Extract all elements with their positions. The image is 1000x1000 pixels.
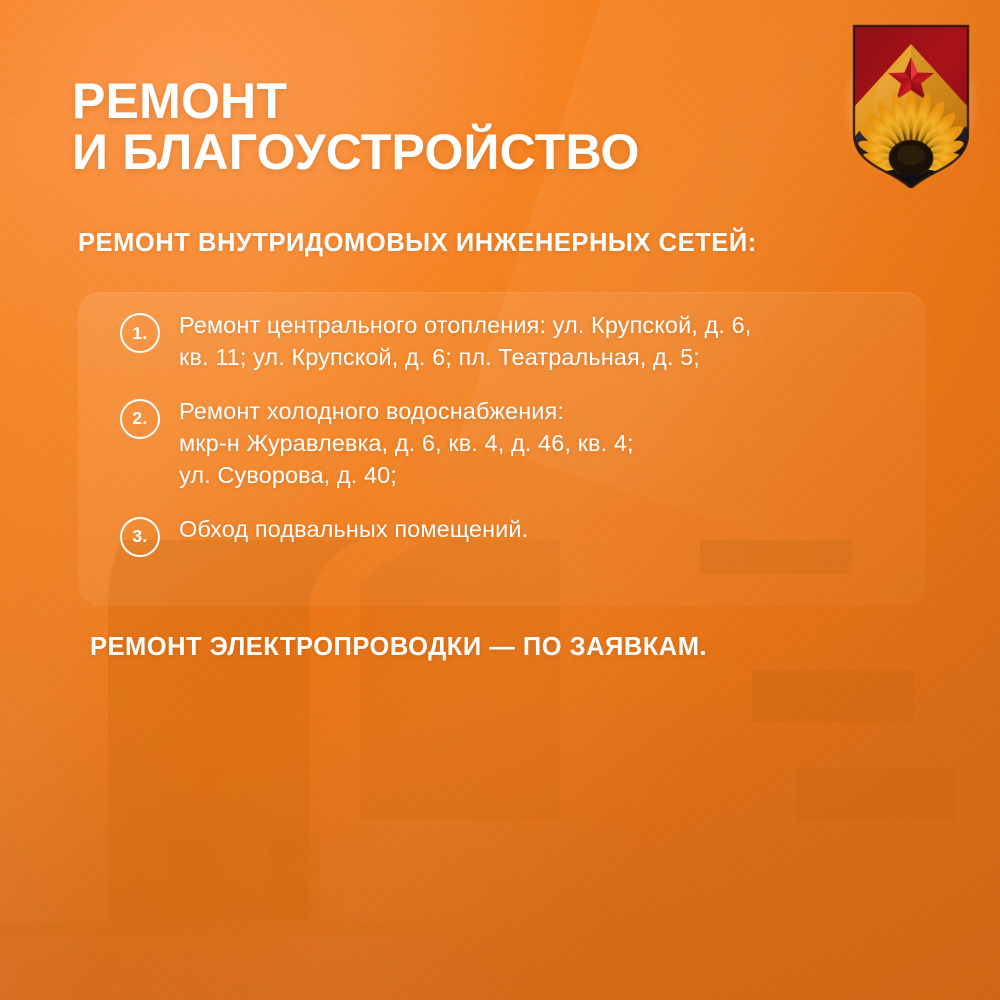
list-item-line: Ремонт холодного водоснабжения: [179,396,634,428]
list-item-text: Ремонт центрального отопления: ул. Крупс… [179,310,751,374]
works-list: 1. Ремонт центрального отопления: ул. Кр… [120,310,940,557]
list-item-text: Обход подвальных помещений. [179,514,528,546]
list-item-marker: 2. [120,399,160,439]
section-subtitle: РЕМОНТ ВНУТРИДОМОВЫХ ИНЖЕНЕРНЫХ СЕТЕЙ: [78,229,757,258]
list-item-line: ул. Суворова, д. 40; [179,460,634,492]
list-item-line: мкр-н Журавлевка, д. 6, кв. 4, д. 46, кв… [179,428,634,460]
list-item: 3. Обход подвальных помещений. [120,514,940,557]
page-title-line-2: И БЛАГОУСТРОЙСТВО [72,127,812,178]
footnote-text: РЕМОНТ ЭЛЕКТРОПРОВОДКИ — ПО ЗАЯВКАМ. [90,633,707,662]
list-item-marker: 3. [120,517,160,557]
page-title-line-1: РЕМОНТ [72,76,812,127]
list-item-marker: 1. [120,313,160,353]
coat-of-arms-emblem [848,22,974,188]
list-item: 2. Ремонт холодного водоснабжения: мкр-н… [120,396,940,492]
list-item-text: Ремонт холодного водоснабжения: мкр-н Жу… [179,396,634,492]
coat-of-arms-icon [848,22,974,188]
page-title: РЕМОНТ И БЛАГОУСТРОЙСТВО [72,76,812,178]
list-item-line: Ремонт центрального отопления: ул. Крупс… [179,310,751,342]
list-item-line: Обход подвальных помещений. [179,514,528,546]
list-item: 1. Ремонт центрального отопления: ул. Кр… [120,310,940,374]
list-item-line: кв. 11; ул. Крупской, д. 6; пл. Театраль… [179,342,751,374]
poster-canvas: РЕМОНТ И БЛАГОУСТРОЙСТВО РЕМОНТ ВНУТРИДО… [0,0,1000,1000]
